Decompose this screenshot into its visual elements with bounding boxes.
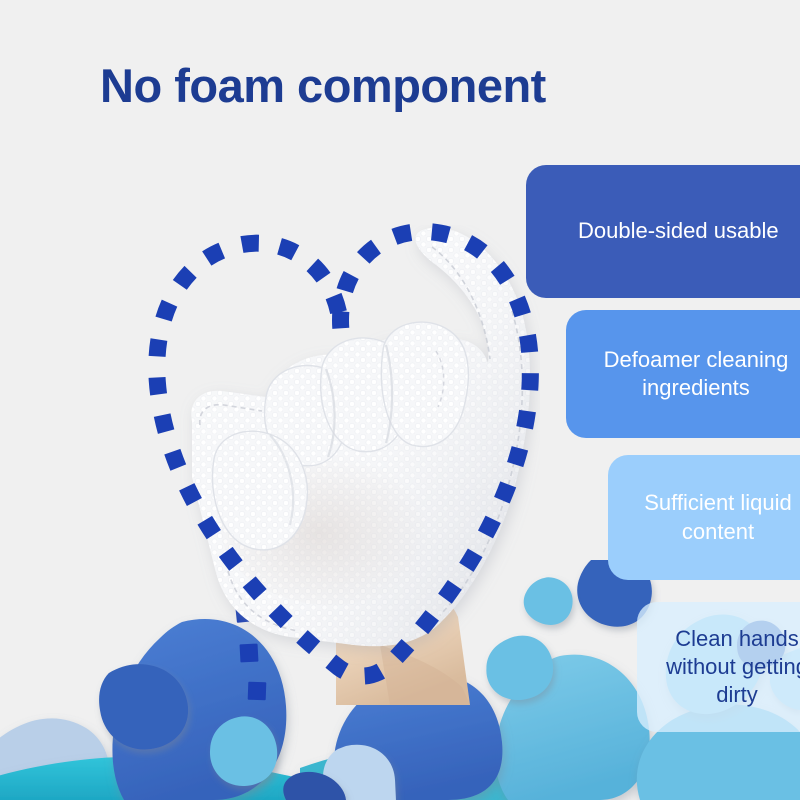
callout-label: Double-sided usable xyxy=(578,217,800,245)
callout-label: Clean hands without getting dirty xyxy=(653,625,800,709)
product-image-glove-wipe xyxy=(140,225,540,705)
callout-label: Defoamer cleaning ingredients xyxy=(582,346,800,402)
callout-double-sided-usable[interactable]: Double-sided usable xyxy=(526,165,800,298)
callout-defoamer-cleaning-ingredients[interactable]: Defoamer cleaning ingredients xyxy=(566,310,800,438)
callout-sufficient-liquid-content[interactable]: Sufficient liquid content xyxy=(608,455,800,580)
page-title: No foam component xyxy=(100,58,546,113)
callout-label: Sufficient liquid content xyxy=(624,489,800,545)
callout-clean-hands-without-getting-dirty[interactable]: Clean hands without getting dirty xyxy=(637,602,800,732)
poster-canvas: No foam component xyxy=(0,0,800,800)
